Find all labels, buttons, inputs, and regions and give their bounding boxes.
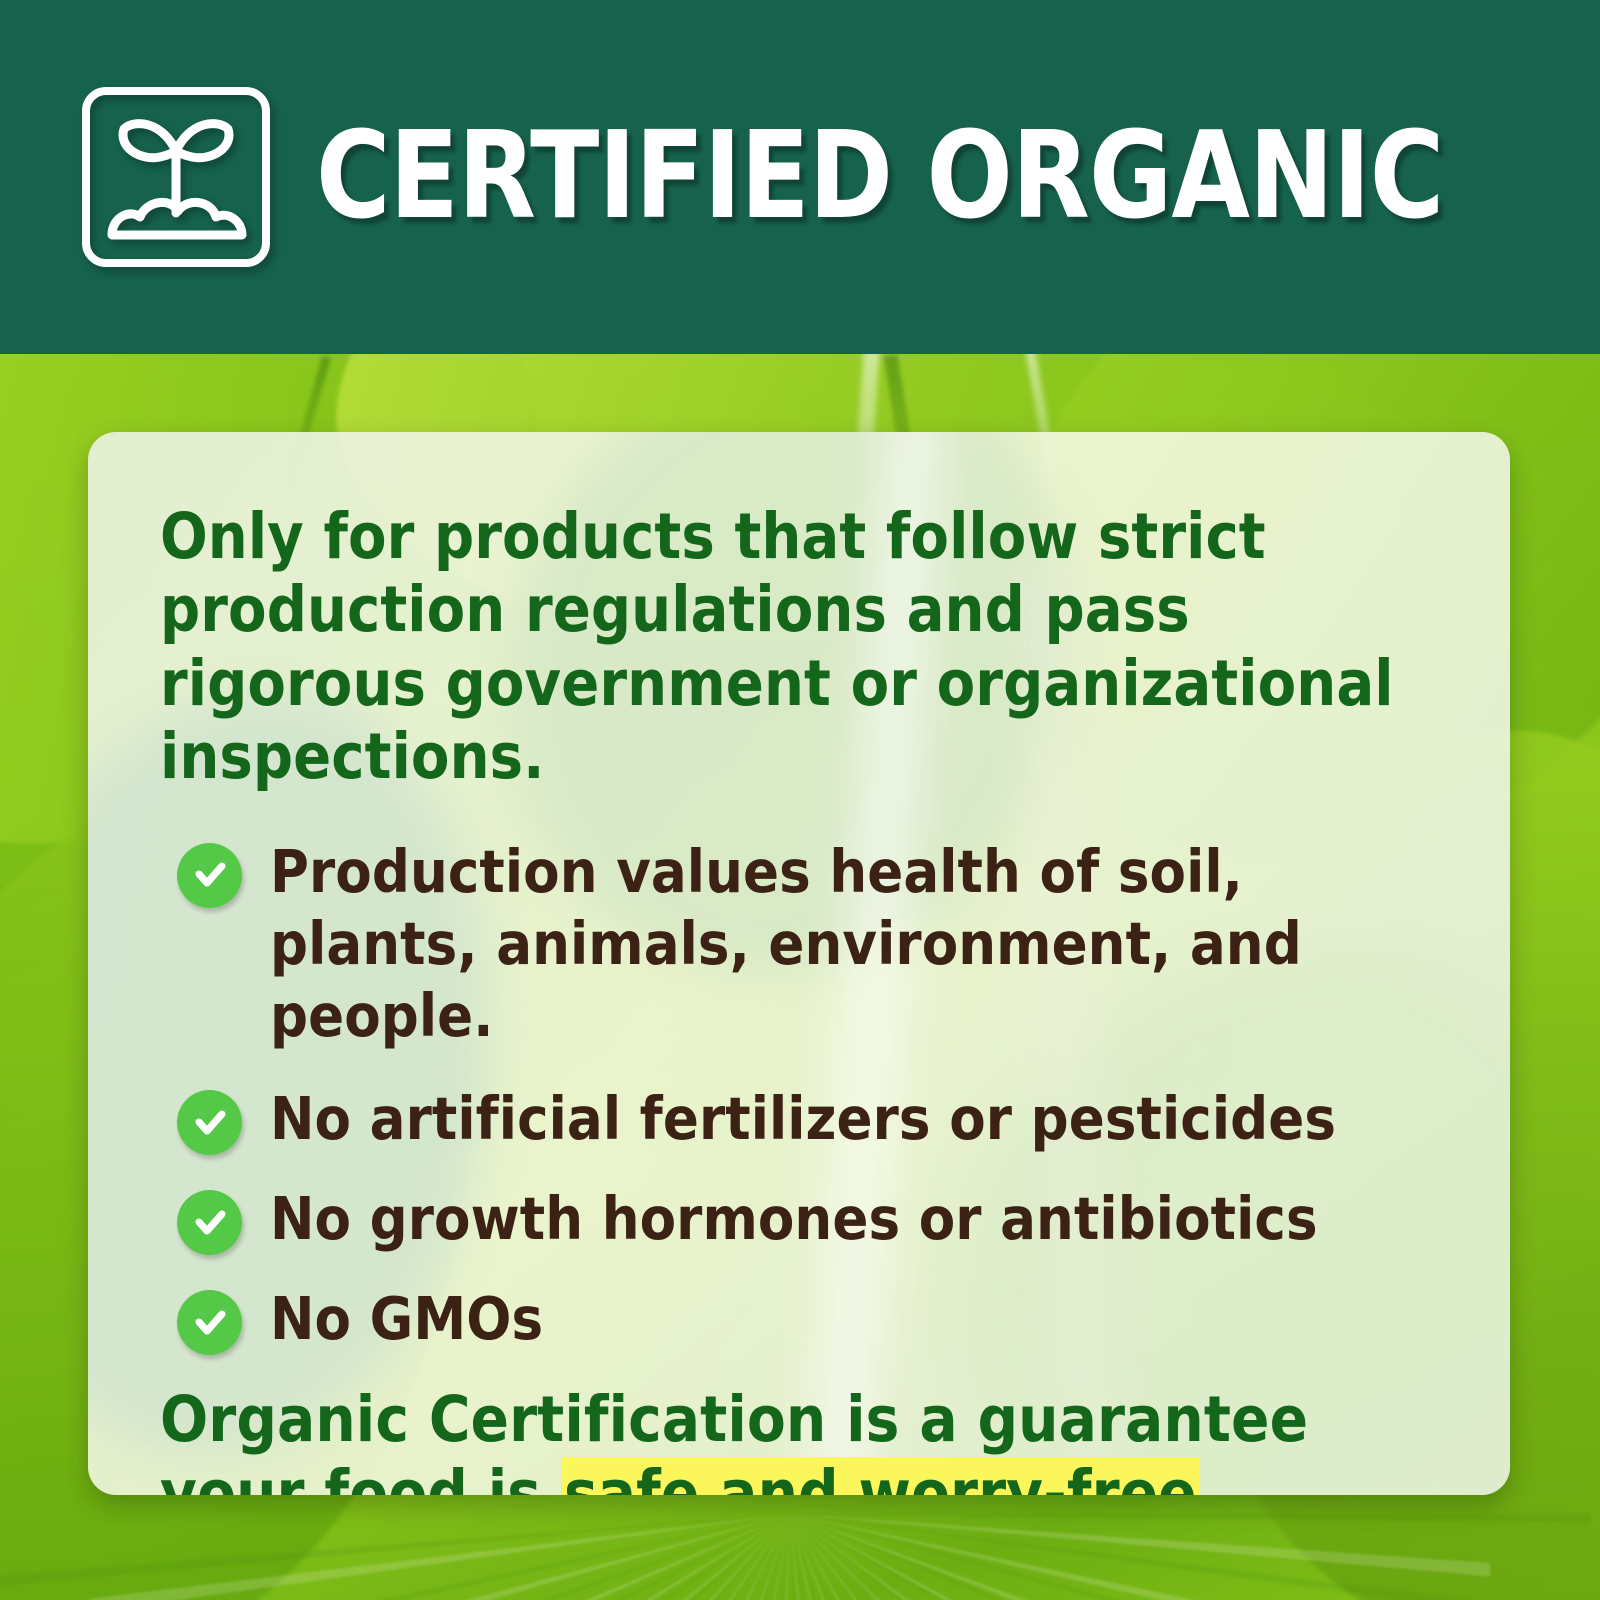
list-item-label: Production values health of soil, plants…	[270, 836, 1444, 1052]
check-circle-icon	[177, 843, 242, 908]
check-circle-icon	[177, 1290, 242, 1355]
list-item: Production values health of soil, plants…	[160, 836, 1444, 1052]
list-item-label: No growth hormones or antibiotics	[270, 1183, 1318, 1255]
page-title: CERTIFIED ORGANIC	[316, 117, 1443, 237]
header-bar: CERTIFIED ORGANIC	[0, 0, 1600, 354]
list-item: No GMOs	[160, 1283, 1444, 1355]
check-circle-icon	[177, 1190, 242, 1255]
list-item-label: No GMOs	[270, 1283, 543, 1355]
check-circle-icon	[177, 1090, 242, 1155]
seedling-sprout-icon	[78, 85, 274, 269]
benefits-list: Production values health of soil, plants…	[160, 836, 1444, 1356]
list-item-label: No artificial fertilizers or pesticides	[270, 1083, 1336, 1155]
list-item: No artificial fertilizers or pesticides	[160, 1083, 1444, 1155]
intro-paragraph: Only for products that follow strict pro…	[160, 500, 1431, 794]
content-card: Only for products that follow strict pro…	[88, 432, 1510, 1495]
closing-statement: Organic Certification is a guarantee you…	[160, 1383, 1444, 1495]
list-item: No growth hormones or antibiotics	[160, 1183, 1444, 1255]
closing-highlight: safe and worry-free	[561, 1457, 1200, 1495]
